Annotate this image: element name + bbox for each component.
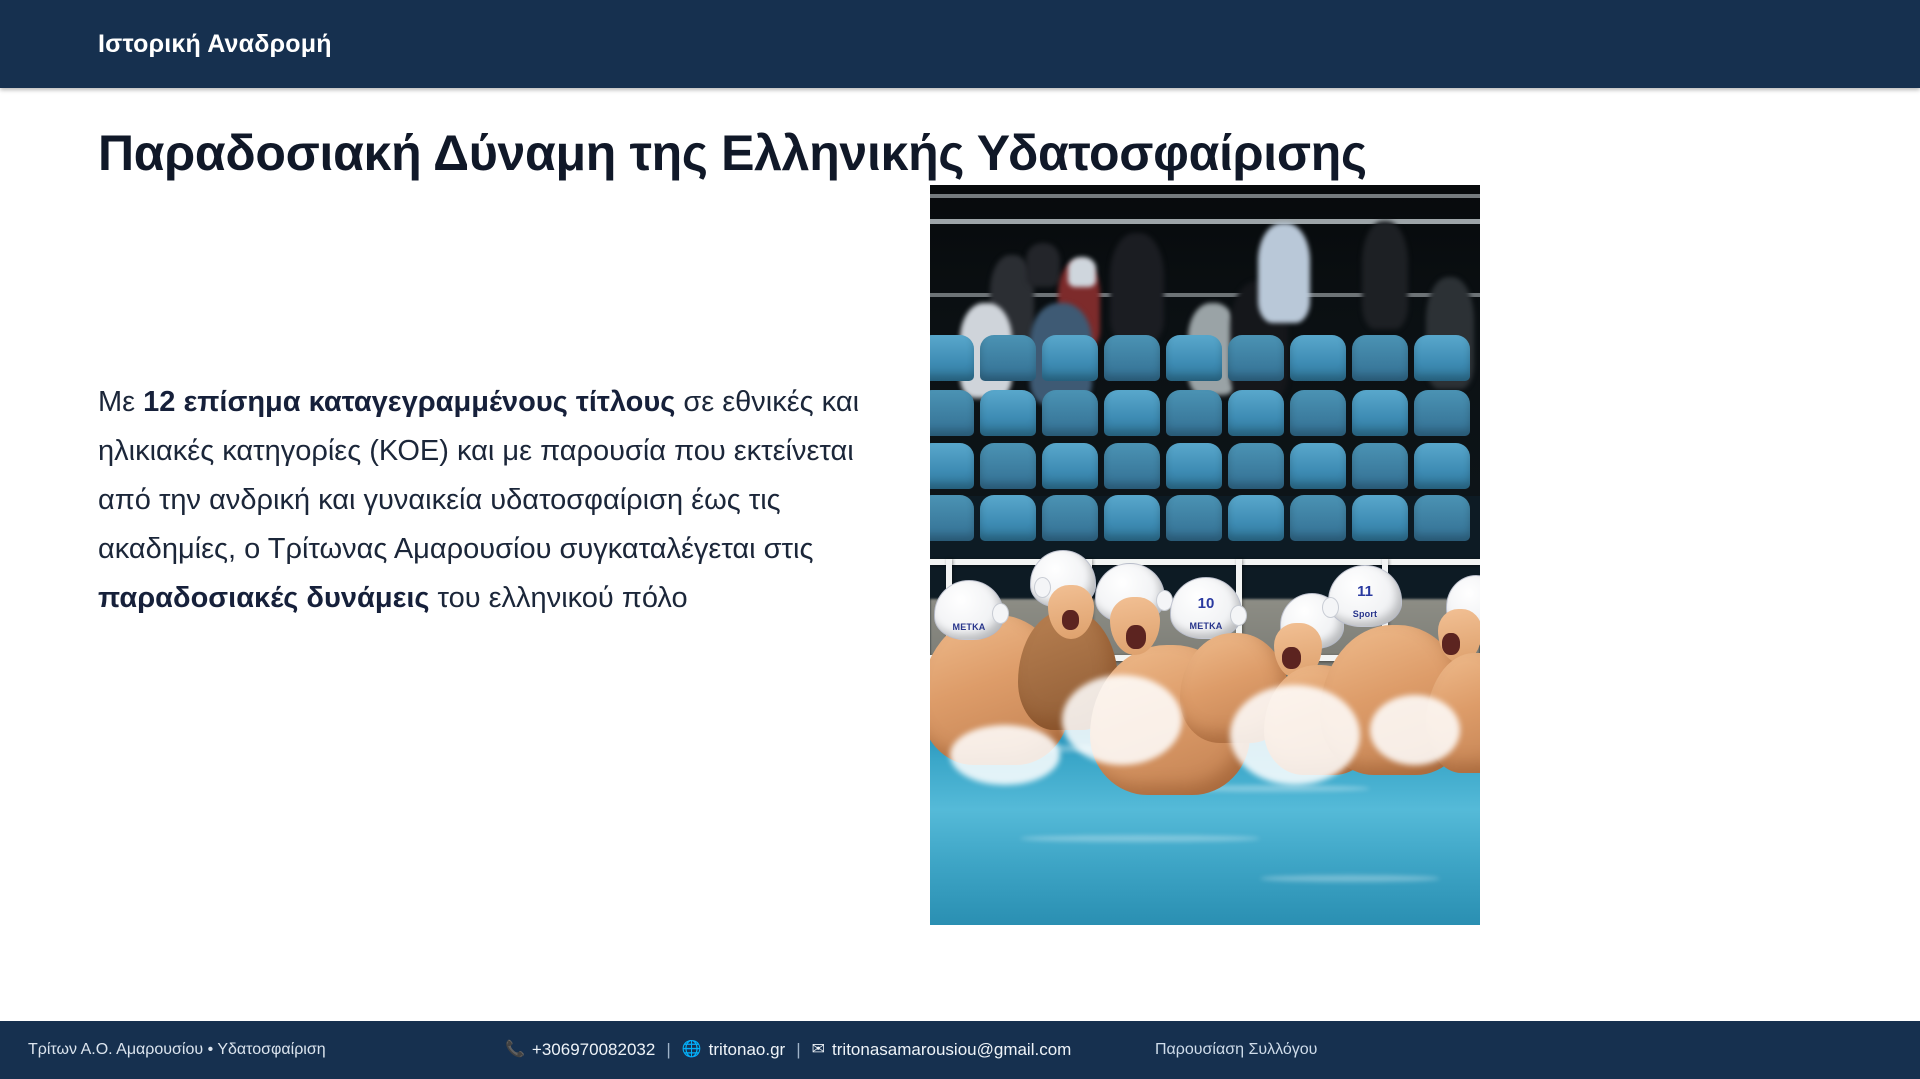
seat-row xyxy=(930,390,1480,436)
stadium-seat xyxy=(1228,495,1284,541)
stadium-seat xyxy=(1352,443,1408,489)
stadium-seat xyxy=(930,495,974,541)
railing-bar xyxy=(930,559,1480,565)
stadium-seat xyxy=(980,443,1036,489)
stadium-seat xyxy=(1104,390,1160,436)
stadium-seat xyxy=(1166,390,1222,436)
stadium-seat xyxy=(1228,443,1284,489)
presentation-slide: Ιστορική Αναδρομή Παραδοσιακή Δύναμη της… xyxy=(0,0,1920,1079)
cap-brand: METKA xyxy=(935,622,1003,632)
cap-ear xyxy=(1230,605,1247,626)
page-title: Παραδοσιακή Δύναμη της Ελληνικής Υδατοσφ… xyxy=(98,124,1367,182)
stadium-seat xyxy=(1290,390,1346,436)
stadium-seat xyxy=(980,335,1036,381)
player-mouth xyxy=(1126,625,1146,649)
stadium-seat xyxy=(1352,335,1408,381)
paragraph-part-3: του ελληνικού πόλο xyxy=(429,582,687,614)
stadium-seat xyxy=(1414,443,1470,489)
water-highlight xyxy=(1020,835,1260,842)
stadium-seat xyxy=(980,390,1036,436)
stadium-seat xyxy=(930,390,974,436)
slide-content: Παραδοσιακή Δύναμη της Ελληνικής Υδατοσφ… xyxy=(0,88,1920,1021)
water-highlight xyxy=(1260,875,1440,882)
footer-separator-1: | xyxy=(666,1040,670,1060)
stadium-seat xyxy=(1166,443,1222,489)
footer-presentation-label: Παρουσίαση Συλλόγου xyxy=(1155,1041,1317,1059)
body-paragraph: Με 12 επίσημα καταγεγραμμένους τίτλους σ… xyxy=(98,378,898,623)
paragraph-bold-titles: 12 επίσημα καταγεγραμμένους τίτλους xyxy=(143,386,675,418)
stadium-seat xyxy=(1290,335,1346,381)
footer-club-label: Τρίτων Α.Ο. Αμαρουσίου • Υδατοσφαίριση xyxy=(28,1041,326,1059)
stadium-seat xyxy=(1042,335,1098,381)
stadium-seat xyxy=(930,443,974,489)
hall-beam xyxy=(930,219,1480,224)
stadium-seat xyxy=(980,495,1036,541)
spectator xyxy=(1110,233,1164,343)
cap-brand: Sport xyxy=(1329,609,1401,619)
stadium-seat xyxy=(1290,495,1346,541)
seat-row xyxy=(930,443,1480,489)
water-splash xyxy=(1062,675,1182,765)
footer-phone[interactable]: +306970082032 xyxy=(532,1040,655,1060)
spectator xyxy=(1026,243,1060,287)
water-splash xyxy=(1370,695,1460,765)
waterpolo-photo: METKA xyxy=(930,185,1480,925)
spectator xyxy=(1068,257,1096,287)
stadium-seat xyxy=(1414,335,1470,381)
header-title: Ιστορική Αναδρομή xyxy=(98,30,332,59)
stadium-seat xyxy=(1104,335,1160,381)
spectator xyxy=(1362,221,1408,329)
spectator xyxy=(1258,223,1310,323)
slide-footer-bar: Τρίτων Α.Ο. Αμαρουσίου • Υδατοσφαίριση 📞… xyxy=(0,1021,1920,1079)
stadium-seat xyxy=(1290,443,1346,489)
cap-ear xyxy=(992,603,1009,624)
player-mouth xyxy=(1442,633,1460,655)
stadium-seat xyxy=(1352,390,1408,436)
stadium-seat xyxy=(1228,390,1284,436)
mail-icon: ✉ xyxy=(812,1042,825,1058)
paragraph-part-1: Με xyxy=(98,386,143,418)
water-splash xyxy=(950,725,1060,785)
globe-icon: 🌐 xyxy=(682,1042,702,1058)
footer-email[interactable]: tritonasamarousiou@gmail.com xyxy=(832,1040,1071,1060)
stadium-seat xyxy=(1166,495,1222,541)
paragraph-bold-forces: παραδοσιακές δυνάμεις xyxy=(98,582,429,614)
player-mouth xyxy=(1282,647,1301,669)
stadium-seat xyxy=(1228,335,1284,381)
stadium-seat xyxy=(1042,495,1098,541)
stadium-seat xyxy=(1166,335,1222,381)
stadium-seat xyxy=(1042,443,1098,489)
stadium-seat xyxy=(1042,390,1098,436)
player-cap: 11 Sport xyxy=(1328,565,1402,627)
seat-row xyxy=(930,335,1480,381)
phone-icon: 📞 xyxy=(505,1042,525,1058)
hall-beam xyxy=(930,194,1480,198)
footer-contact-info: 📞 +306970082032 | 🌐 tritonao.gr | ✉ trit… xyxy=(505,1040,1071,1060)
seat-row xyxy=(930,495,1480,541)
photo-illustration: METKA xyxy=(930,185,1480,925)
footer-website[interactable]: tritonao.gr xyxy=(709,1040,786,1060)
stadium-seat xyxy=(1414,495,1470,541)
stadium-seat xyxy=(1352,495,1408,541)
cap-brand: METKA xyxy=(1171,621,1241,631)
stadium-seat xyxy=(930,335,974,381)
stadium-seat xyxy=(1104,443,1160,489)
stadium-seat xyxy=(1104,495,1160,541)
slide-header-bar: Ιστορική Αναδρομή xyxy=(0,0,1920,88)
cap-number: 11 xyxy=(1329,583,1401,600)
player-mouth xyxy=(1062,610,1079,630)
cap-ear xyxy=(1322,597,1339,618)
water-splash xyxy=(1230,685,1360,785)
stadium-seat xyxy=(1414,390,1470,436)
footer-separator-2: | xyxy=(796,1040,800,1060)
cap-ear xyxy=(1034,577,1051,598)
